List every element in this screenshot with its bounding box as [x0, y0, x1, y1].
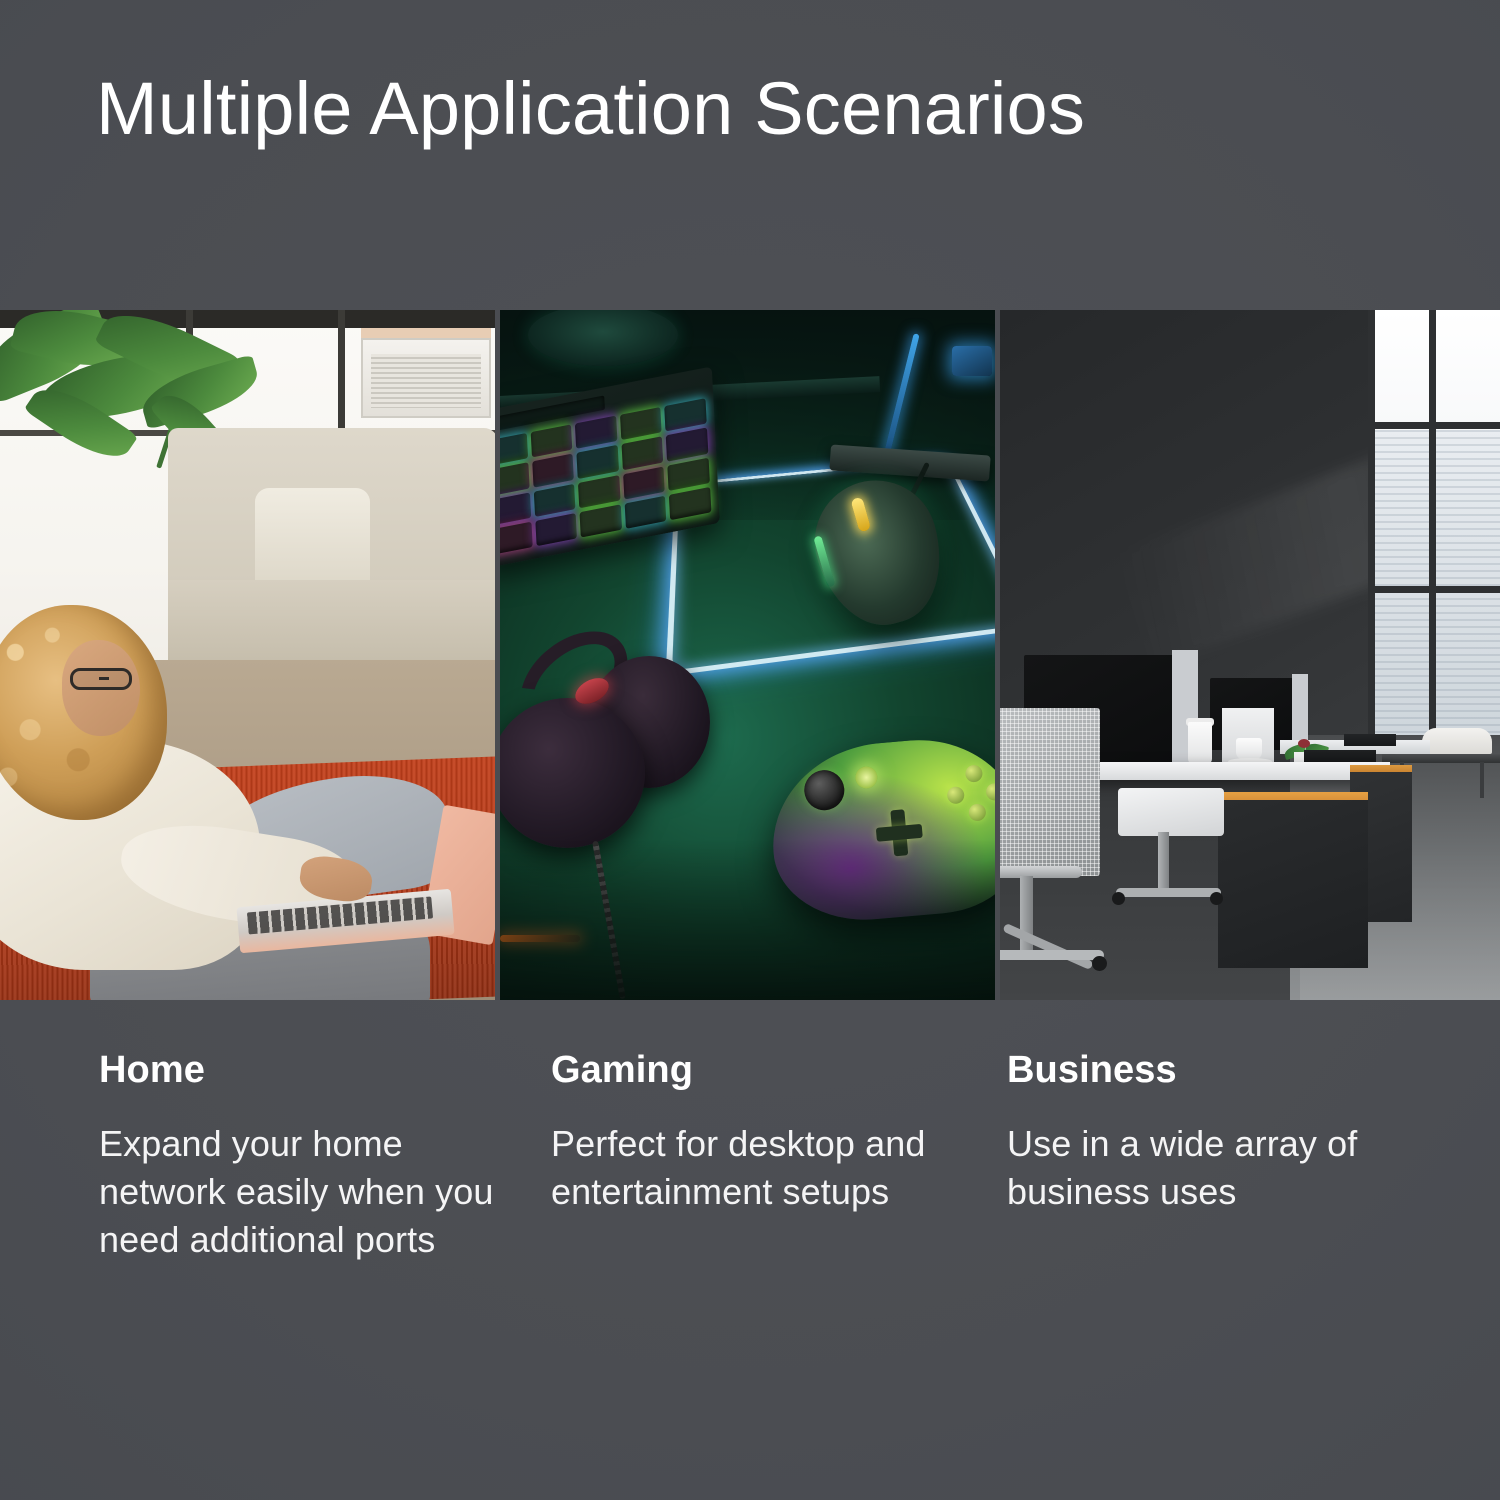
- controller-thumbstick: [803, 769, 846, 812]
- headphone-earcup: [500, 698, 645, 848]
- key: [535, 513, 577, 546]
- controller-button: [947, 786, 965, 804]
- key: [666, 428, 708, 461]
- bench-leg: [1480, 762, 1484, 798]
- scene-vignette: [500, 840, 995, 1000]
- couch-cushion: [255, 488, 370, 588]
- chair-caster: [1112, 892, 1125, 905]
- home-scene: [0, 310, 495, 1000]
- lounge-chair: [1422, 728, 1492, 754]
- controller-face-buttons: [945, 763, 995, 824]
- window-mullion-vertical: [1368, 310, 1375, 780]
- key: [624, 495, 666, 528]
- scenario-image-gaming: [500, 310, 995, 1000]
- caption-body-home: Expand your home network easily when you…: [99, 1120, 499, 1264]
- caption-gaming: Gaming Perfect for desktop and entertain…: [551, 1050, 951, 1216]
- controller-button: [985, 783, 995, 801]
- city-view: [1372, 430, 1500, 760]
- key: [669, 487, 711, 520]
- key: [500, 492, 531, 525]
- chair-caster: [1210, 892, 1223, 905]
- controller-home-button: [854, 766, 878, 790]
- mesh-office-chair: [1000, 708, 1100, 876]
- gaming-scene: [500, 310, 995, 1000]
- office-window: [1372, 310, 1500, 780]
- window-mullion-vertical: [1429, 310, 1436, 780]
- office-chair-base: [1000, 950, 1104, 960]
- couch-seat: [168, 580, 495, 670]
- scenario-captions: Home Expand your home network easily whe…: [0, 1050, 1500, 1470]
- key: [500, 433, 528, 466]
- scenario-image-home: [0, 310, 495, 1000]
- business-scene: [1000, 310, 1500, 1000]
- key: [665, 398, 707, 431]
- key: [575, 416, 617, 449]
- caption-body-gaming: Perfect for desktop and entertainment se…: [551, 1120, 951, 1216]
- air-conditioner-icon: [361, 338, 491, 418]
- caption-home: Home Expand your home network easily whe…: [99, 1050, 499, 1263]
- usb-plug-icon: [952, 346, 992, 376]
- infographic-page: Multiple Application Scenarios: [0, 0, 1500, 1500]
- key: [532, 454, 574, 487]
- plant-flower: [1298, 739, 1310, 748]
- mug-icon: [1236, 738, 1262, 760]
- mouse-scroll-wheel: [850, 497, 871, 533]
- key: [620, 407, 662, 440]
- key: [623, 466, 665, 499]
- office-chair-post: [1158, 832, 1169, 894]
- caption-business: Business Use in a wide array of business…: [1007, 1050, 1427, 1216]
- key: [578, 475, 620, 508]
- key: [500, 522, 532, 555]
- ac-grill: [371, 354, 481, 408]
- key: [621, 436, 663, 469]
- page-title: Multiple Application Scenarios: [96, 72, 1085, 146]
- office-chair-seat: [1118, 788, 1224, 836]
- office-chair-arm: [1000, 866, 1082, 878]
- glasses-icon: [70, 668, 132, 690]
- controller-button: [968, 803, 986, 821]
- caption-title-gaming: Gaming: [551, 1050, 951, 1092]
- desk-tray: [1344, 734, 1396, 746]
- cabinet: [1218, 800, 1368, 968]
- caption-body-business: Use in a wide array of business uses: [1007, 1120, 1427, 1216]
- scenario-image-strip: [0, 310, 1500, 1000]
- key: [530, 424, 572, 457]
- controller-button: [965, 764, 983, 782]
- desk-surface: [1070, 762, 1390, 780]
- key: [500, 463, 529, 496]
- key: [580, 504, 622, 537]
- key: [577, 445, 619, 478]
- chair-caster: [1092, 956, 1107, 971]
- coffee-cup-icon: [1188, 722, 1212, 764]
- caption-title-business: Business: [1007, 1050, 1427, 1092]
- window-mullion-horizontal: [1372, 586, 1500, 593]
- office-chair-base: [1116, 888, 1221, 897]
- key: [533, 483, 575, 516]
- scenario-image-business: [1000, 310, 1500, 1000]
- window-mullion-horizontal: [1372, 422, 1500, 429]
- key: [668, 457, 710, 490]
- caption-title-home: Home: [99, 1050, 499, 1092]
